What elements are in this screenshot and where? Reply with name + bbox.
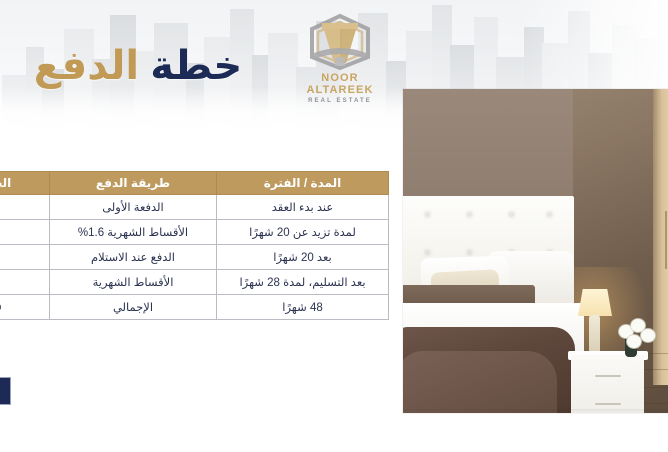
photo-table-lamp-base	[589, 315, 600, 353]
table-row: لمدة تزيد عن 20 شهرًا الأقساط الشهرية 1.…	[0, 220, 389, 245]
cell-method: الدفع عند الاستلام	[50, 245, 217, 270]
page-title: خطة الدفع	[0, 44, 276, 89]
cell-method: الدفعة الأولى	[50, 195, 217, 220]
cell-share: 0%	[0, 295, 50, 320]
photo-flower	[627, 335, 641, 348]
cell-method: الأقساط الشهرية	[50, 270, 217, 295]
payment-plan-table: المدة / الفترة طريقة الدفع الحصة عند بدء…	[0, 171, 389, 320]
bedroom-photo	[403, 89, 668, 413]
table-row: عند بدء العقد الدفعة الأولى %	[0, 195, 389, 220]
photo-nightstand	[571, 355, 644, 413]
photo-flower	[641, 329, 655, 342]
photo-duvet-fold	[403, 351, 557, 413]
logo-monogram-icon	[302, 13, 378, 71]
photo-wardrobe-handle	[665, 211, 667, 269]
logo-tagline: REAL ESTATE	[288, 98, 392, 104]
table-row: 48 شهرًا الإجمالي 0%	[0, 295, 389, 320]
cell-method: الأقساط الشهرية 1.6%	[50, 220, 217, 245]
table-row: بعد 20 شهرًا الدفع عند الاستلام %	[0, 245, 389, 270]
cell-share: %	[0, 270, 50, 295]
table-row: بعد التسليم، لمدة 28 شهرًا الأقساط الشهر…	[0, 270, 389, 295]
column-header-period: المدة / الفترة	[217, 172, 389, 195]
page-title-word-payment: الدفع	[34, 44, 139, 88]
cell-period: بعد التسليم، لمدة 28 شهرًا	[217, 270, 389, 295]
table-header-row: المدة / الفترة طريقة الدفع الحصة	[0, 172, 389, 195]
column-header-share: الحصة	[0, 172, 50, 195]
cell-period: لمدة تزيد عن 20 شهرًا	[217, 220, 389, 245]
cell-period: 48 شهرًا	[217, 295, 389, 320]
navy-accent-tab	[0, 377, 11, 405]
photo-table-lamp-shade	[578, 289, 612, 316]
logo-company-name: NOOR ALTAREEK	[288, 72, 392, 96]
page-title-word-plan: خطة	[150, 44, 242, 88]
table-header: المدة / الفترة طريقة الدفع الحصة	[0, 172, 389, 195]
cell-period: بعد 20 شهرًا	[217, 245, 389, 270]
cell-period: عند بدء العقد	[217, 195, 389, 220]
cell-method: الإجمالي	[50, 295, 217, 320]
photo-bottom-edge	[403, 409, 668, 413]
cell-share: %	[0, 245, 50, 270]
cell-share: %	[0, 220, 50, 245]
cell-share: %	[0, 195, 50, 220]
column-header-method: طريقة الدفع	[50, 172, 217, 195]
company-logo: NOOR ALTAREEK REAL ESTATE	[288, 13, 392, 103]
table-body: عند بدء العقد الدفعة الأولى % لمدة تزيد …	[0, 195, 389, 320]
